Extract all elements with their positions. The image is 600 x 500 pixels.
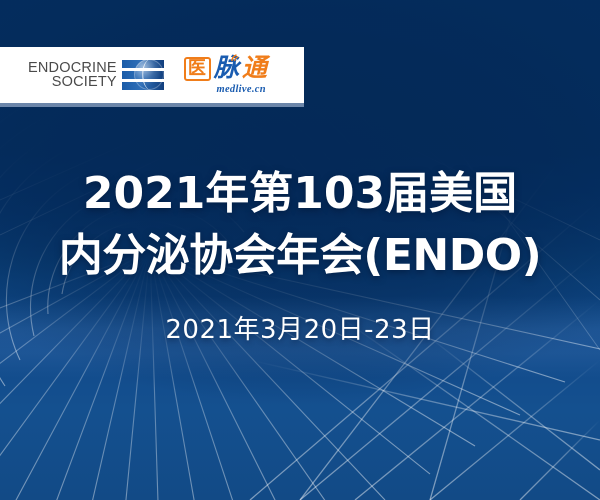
medlive-logo: 医 脉 通 medlive.cn xyxy=(184,55,268,95)
globe-bars-icon xyxy=(122,58,164,92)
conference-date: 2021年3月20日-23日 xyxy=(165,309,434,346)
logo-bar-underline xyxy=(0,103,304,107)
conference-poster: ENDOCRINE SOCIETY 医 脉 通 medlive xyxy=(0,0,600,500)
globe-meridian xyxy=(142,59,160,90)
medlive-signal-icon xyxy=(231,53,242,62)
headline-line-1: 2021年第103届美国 xyxy=(59,163,542,225)
medlive-subtitle: medlive.cn xyxy=(216,84,265,95)
endocrine-society-line1: ENDOCRINE xyxy=(28,61,117,76)
medlive-char-tong: 通 xyxy=(242,55,268,80)
endocrine-society-line2: SOCIETY xyxy=(52,75,117,90)
medlive-char-yi: 医 xyxy=(184,57,211,81)
endocrine-society-wordmark: ENDOCRINE SOCIETY xyxy=(28,61,117,90)
endocrine-society-logo: ENDOCRINE SOCIETY xyxy=(28,58,164,92)
poster-headline: 2021年第103届美国 内分泌协会年会(ENDO) xyxy=(59,163,542,287)
medlive-wordmark: 医 脉 通 xyxy=(184,55,268,83)
headline-line-2: 内分泌协会年会(ENDO) xyxy=(59,225,542,287)
logo-bar: ENDOCRINE SOCIETY 医 脉 通 medlive xyxy=(0,47,304,103)
